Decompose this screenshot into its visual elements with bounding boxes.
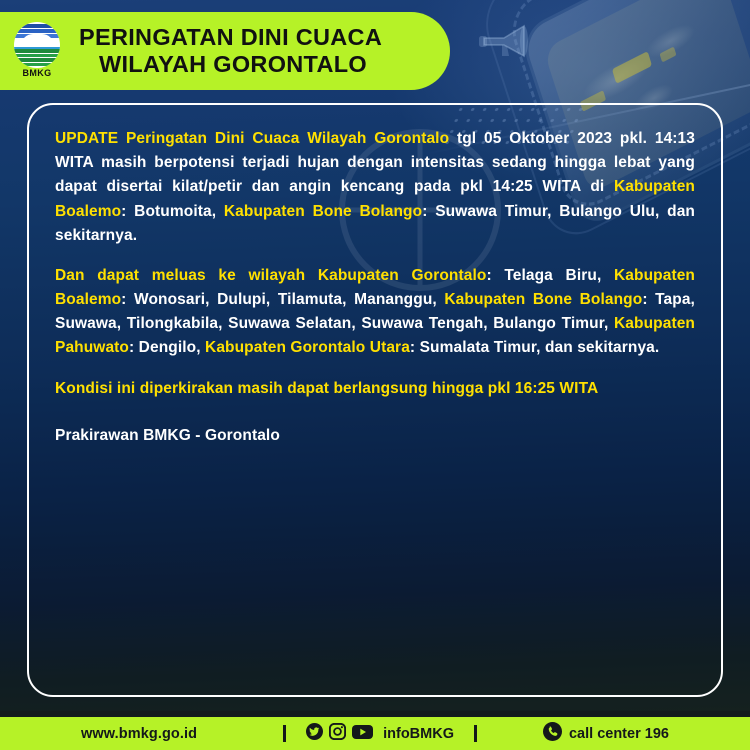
social-media-group: infoBMKG	[306, 723, 454, 744]
paragraph-2: Dan dapat meluas ke wilayah Kabupaten Go…	[55, 264, 695, 361]
youtube-icon[interactable]	[352, 724, 373, 744]
warning-body-text: UPDATE Peringatan Dini Cuaca Wilayah Gor…	[55, 127, 695, 448]
highlighted-text: UPDATE Peringatan Dini Cuaca Wilayah Gor…	[55, 130, 449, 147]
highlighted-text: Kabupaten Bone Bolango	[444, 291, 642, 308]
bmkg-logo-label: BMKG	[22, 69, 51, 78]
bmkg-logo-emblem-icon	[14, 22, 60, 68]
megaphone-icon	[478, 22, 540, 62]
highlighted-text: Kabupaten Gorontalo	[318, 267, 487, 284]
body-text-run: : Dengilo,	[129, 339, 205, 356]
weather-warning-poster: BMKG PERINGATAN DINI CUACA WILAYAH GORON…	[0, 0, 750, 750]
page-title: PERINGATAN DINI CUACA WILAYAH GORONTALO	[79, 24, 382, 79]
website-link[interactable]: www.bmkg.go.id	[81, 726, 197, 742]
body-text-run: : Telaga Biru,	[486, 267, 614, 284]
body-text-run: : Wonosari, Dulupi, Tilamuta, Mananggu,	[121, 291, 444, 308]
phone-icon	[543, 722, 562, 745]
footer-separator-left	[283, 725, 286, 742]
highlighted-text: Dan dapat meluas ke wilayah	[55, 267, 318, 284]
map-highlight-region-2	[660, 46, 677, 62]
signature: Prakirawan BMKG - Gorontalo	[55, 424, 695, 448]
body-text-run: : Sumalata Timur, dan sekitarnya.	[410, 339, 659, 356]
call-center-label: call center 196	[569, 726, 669, 742]
warning-card: UPDATE Peringatan Dini Cuaca Wilayah Gor…	[27, 103, 723, 697]
body-text-run: : Botumoita,	[121, 203, 224, 220]
twitter-icon[interactable]	[306, 723, 323, 744]
paragraph-3-duration: Kondisi ini diperkirakan masih dapat ber…	[55, 377, 695, 401]
page-title-line-1: PERINGATAN DINI CUACA	[79, 24, 382, 51]
map-highlight-region-1	[612, 51, 652, 84]
footer-bar: www.bmkg.go.id	[0, 717, 750, 750]
page-title-line-2: WILAYAH GORONTALO	[99, 51, 382, 78]
highlighted-text: Kabupaten Bone Bolango	[224, 203, 422, 220]
header-badge: BMKG PERINGATAN DINI CUACA WILAYAH GORON…	[0, 12, 450, 90]
footer-separator-right	[474, 725, 477, 742]
call-center-group: call center 196	[543, 722, 669, 745]
social-handle-label: infoBMKG	[383, 726, 454, 742]
paragraph-1: UPDATE Peringatan Dini Cuaca Wilayah Gor…	[55, 127, 695, 248]
highlighted-text: Kabupaten Gorontalo Utara	[205, 339, 410, 356]
instagram-icon[interactable]	[329, 723, 346, 744]
bmkg-logo: BMKG	[13, 22, 61, 80]
